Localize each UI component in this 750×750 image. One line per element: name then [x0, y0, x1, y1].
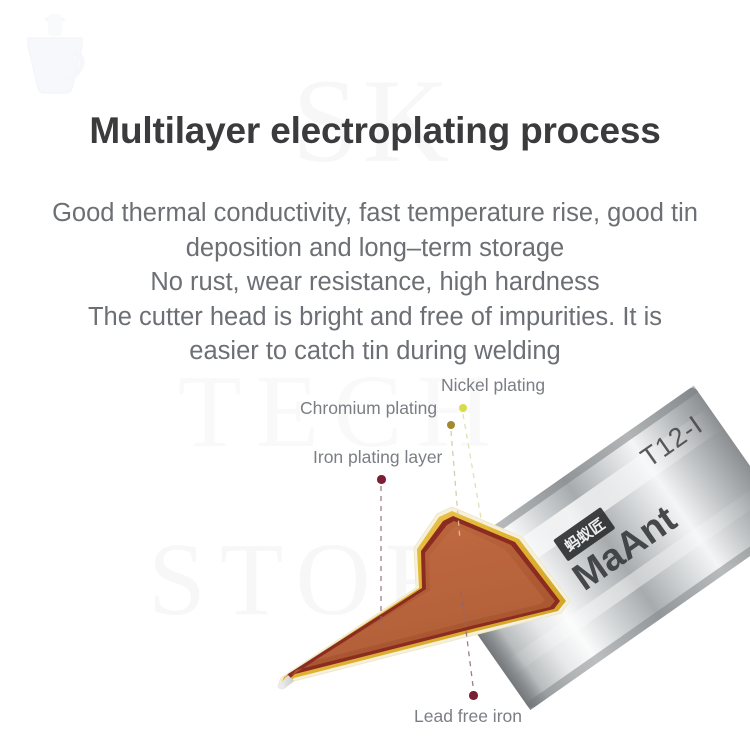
description-line: Good thermal conductivity, fast temperat…: [16, 196, 734, 231]
callout-dot-nickel-plating: [459, 404, 467, 412]
callout-label-lead-free-iron: Lead free iron: [414, 706, 522, 727]
description-line: The cutter head is bright and free of im…: [16, 300, 734, 335]
product-infographic: SK TECH STORE Multilayer electroplating …: [0, 0, 750, 750]
callout-label-chromium-plating: Chromium plating: [300, 398, 437, 419]
callout-dot-lead-free-iron: [469, 691, 478, 700]
callout-dot-chromium-plating: [447, 421, 455, 429]
description-line: easier to catch tin during welding: [16, 334, 734, 369]
callout-dot-iron-plating-layer: [377, 475, 386, 484]
description-line: deposition and long–term storage: [16, 231, 734, 266]
description-line: No rust, wear resistance, high hardness: [16, 265, 734, 300]
page-title: Multilayer electroplating process: [0, 110, 750, 152]
callout-label-nickel-plating: Nickel plating: [441, 375, 545, 396]
leader-nickel: [463, 414, 482, 524]
feature-description: Good thermal conductivity, fast temperat…: [16, 196, 734, 369]
tip-apex: [278, 683, 285, 690]
callout-label-iron-plating-layer: Iron plating layer: [313, 447, 442, 468]
